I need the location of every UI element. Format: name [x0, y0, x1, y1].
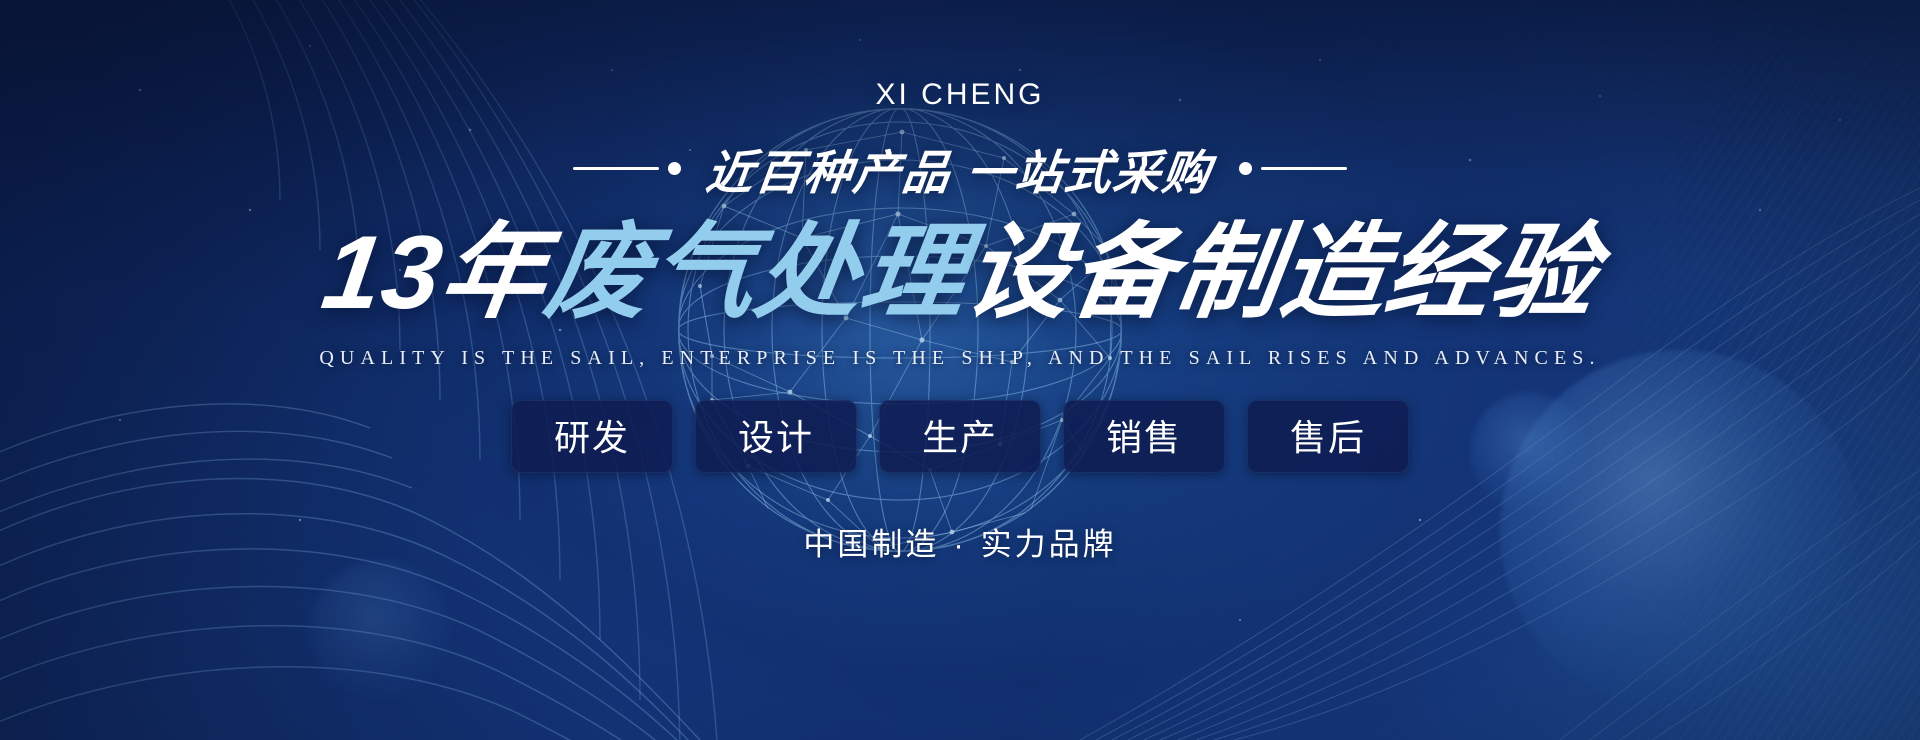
brand-name-english: XI CHENG [875, 78, 1044, 112]
service-pill-rd[interactable]: 研发 [511, 400, 673, 473]
divider-line-left [573, 162, 681, 175]
service-pill-label: 研发 [554, 409, 630, 461]
headline-accent: 废气处理 [538, 215, 974, 331]
headline-part-two: 设备制造经验 [958, 215, 1604, 331]
divider-bar-right [1261, 167, 1347, 170]
service-pill-label: 设计 [738, 409, 814, 461]
footer-tagline: 中国制造·实力品牌 [803, 519, 1116, 564]
footer-separator-dot: · [939, 527, 980, 562]
service-pill-label: 售后 [1290, 409, 1366, 461]
footer-left-text: 中国制造 [803, 527, 939, 562]
headline-part-one: 13年 [316, 215, 555, 331]
divider-bar-left [573, 167, 659, 170]
service-pill-label: 生产 [922, 409, 998, 461]
headline: 13年废气处理设备制造经验 [316, 217, 1605, 329]
footer-right-text: 实力品牌 [981, 527, 1117, 562]
tagline-row: 近百种产品 一站式采购 [573, 134, 1346, 203]
slogan-english: QUALITY IS THE SAIL, ENTERPRISE IS THE S… [319, 347, 1600, 370]
service-pill-sales[interactable]: 销售 [1063, 400, 1225, 473]
hero-banner: XI CHENG 近百种产品 一站式采购 13年废气处理设备制造经验 QUALI… [0, 0, 1920, 740]
service-pill-design[interactable]: 设计 [695, 400, 857, 473]
divider-dot-left [668, 162, 681, 175]
service-pill-production[interactable]: 生产 [879, 400, 1041, 473]
service-pill-label: 销售 [1106, 409, 1182, 461]
tagline-text: 近百种产品 一站式采购 [703, 134, 1217, 203]
divider-line-right [1239, 162, 1347, 175]
divider-dot-right [1239, 162, 1252, 175]
service-pill-aftersales[interactable]: 售后 [1247, 400, 1409, 473]
service-pill-row: 研发 设计 生产 销售 售后 [511, 400, 1409, 473]
banner-content: XI CHENG 近百种产品 一站式采购 13年废气处理设备制造经验 QUALI… [0, 0, 1920, 740]
